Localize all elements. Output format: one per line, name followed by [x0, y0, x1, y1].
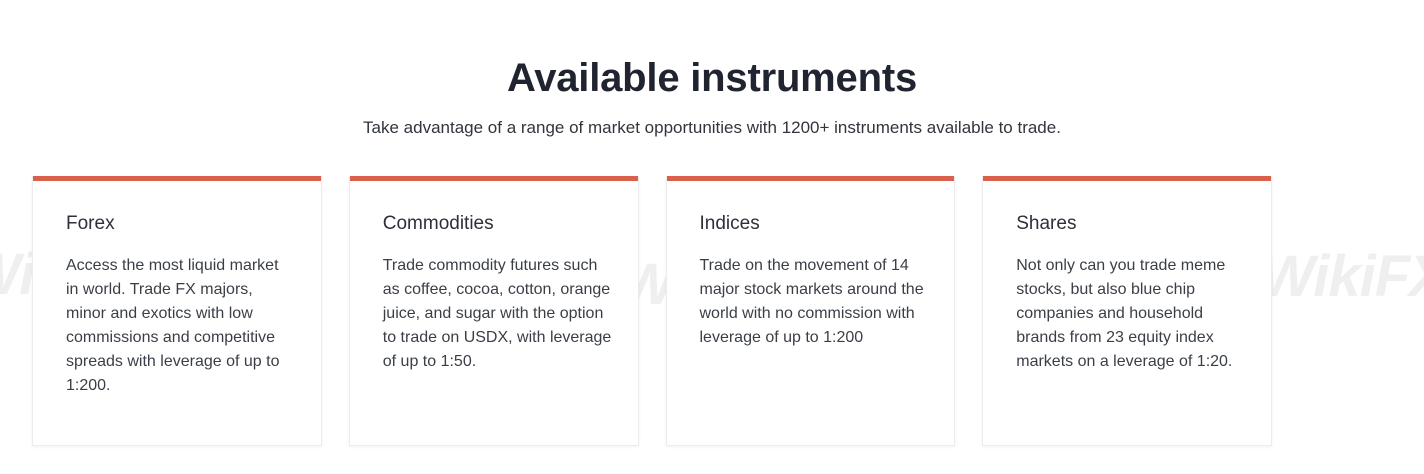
card-title: Indices: [700, 211, 929, 237]
page-title: Available instruments: [0, 52, 1424, 104]
page-subtitle: Take advantage of a range of market oppo…: [0, 116, 1424, 140]
card-body: Forex Access the most liquid market in w…: [33, 181, 321, 398]
instrument-card-commodities[interactable]: Commodities Trade commodity futures such…: [349, 176, 639, 446]
card-description: Trade on the movement of 14 major stock …: [700, 254, 929, 350]
instrument-card-grid: Forex Access the most liquid market in w…: [32, 176, 1272, 448]
card-body: Shares Not only can you trade meme stock…: [983, 181, 1271, 374]
card-description: Trade commodity futures such as coffee, …: [383, 254, 612, 374]
instrument-card-forex[interactable]: Forex Access the most liquid market in w…: [32, 176, 322, 446]
card-body: Indices Trade on the movement of 14 majo…: [667, 181, 955, 350]
card-body: Commodities Trade commodity futures such…: [350, 181, 638, 374]
card-description: Not only can you trade meme stocks, but …: [1016, 254, 1245, 374]
card-title: Commodities: [383, 211, 612, 237]
instruments-section: WikiFX WikiFX WikiFX Available instrumen…: [0, 0, 1424, 474]
watermark-label: WikiFX: [1260, 248, 1424, 306]
card-description: Access the most liquid market in world. …: [66, 254, 295, 398]
card-title: Forex: [66, 211, 295, 237]
instrument-card-indices[interactable]: Indices Trade on the movement of 14 majo…: [666, 176, 956, 446]
section-header: Available instruments Take advantage of …: [0, 0, 1424, 140]
instrument-card-shares[interactable]: Shares Not only can you trade meme stock…: [982, 176, 1272, 446]
card-title: Shares: [1016, 211, 1245, 237]
